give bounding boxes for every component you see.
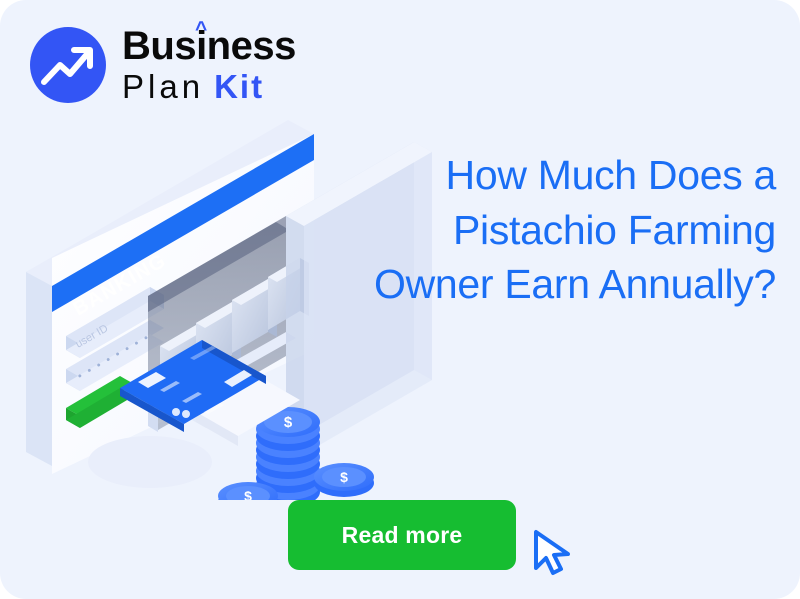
svg-text:$: $	[340, 469, 348, 485]
svg-text:$: $	[244, 488, 252, 500]
logo-business-text: Business	[122, 24, 296, 68]
logo-caret-accent: ^	[195, 19, 207, 40]
promo-banner: Business ^ Plan Kit	[0, 0, 800, 599]
page-title: How Much Does a Pistachio Farming Owner …	[356, 148, 776, 312]
logo-mark-circle	[30, 27, 106, 103]
logo-kit-text: Kit	[214, 70, 264, 103]
mouse-pointer-icon	[530, 528, 578, 580]
coin-dollar-symbol: $	[284, 414, 293, 431]
logo[interactable]: Business ^ Plan Kit	[30, 26, 296, 103]
coin-loose-right: $	[314, 463, 374, 497]
read-more-button[interactable]: Read more	[288, 500, 516, 570]
logo-line-business: Business ^	[122, 26, 296, 66]
cta-group: Read more	[288, 500, 578, 580]
logo-plan-text: Plan	[122, 70, 204, 103]
growth-arrow-chart-icon	[30, 27, 106, 103]
logo-wordmark: Business ^ Plan Kit	[122, 26, 296, 103]
logo-line-plan-kit: Plan Kit	[122, 70, 296, 103]
